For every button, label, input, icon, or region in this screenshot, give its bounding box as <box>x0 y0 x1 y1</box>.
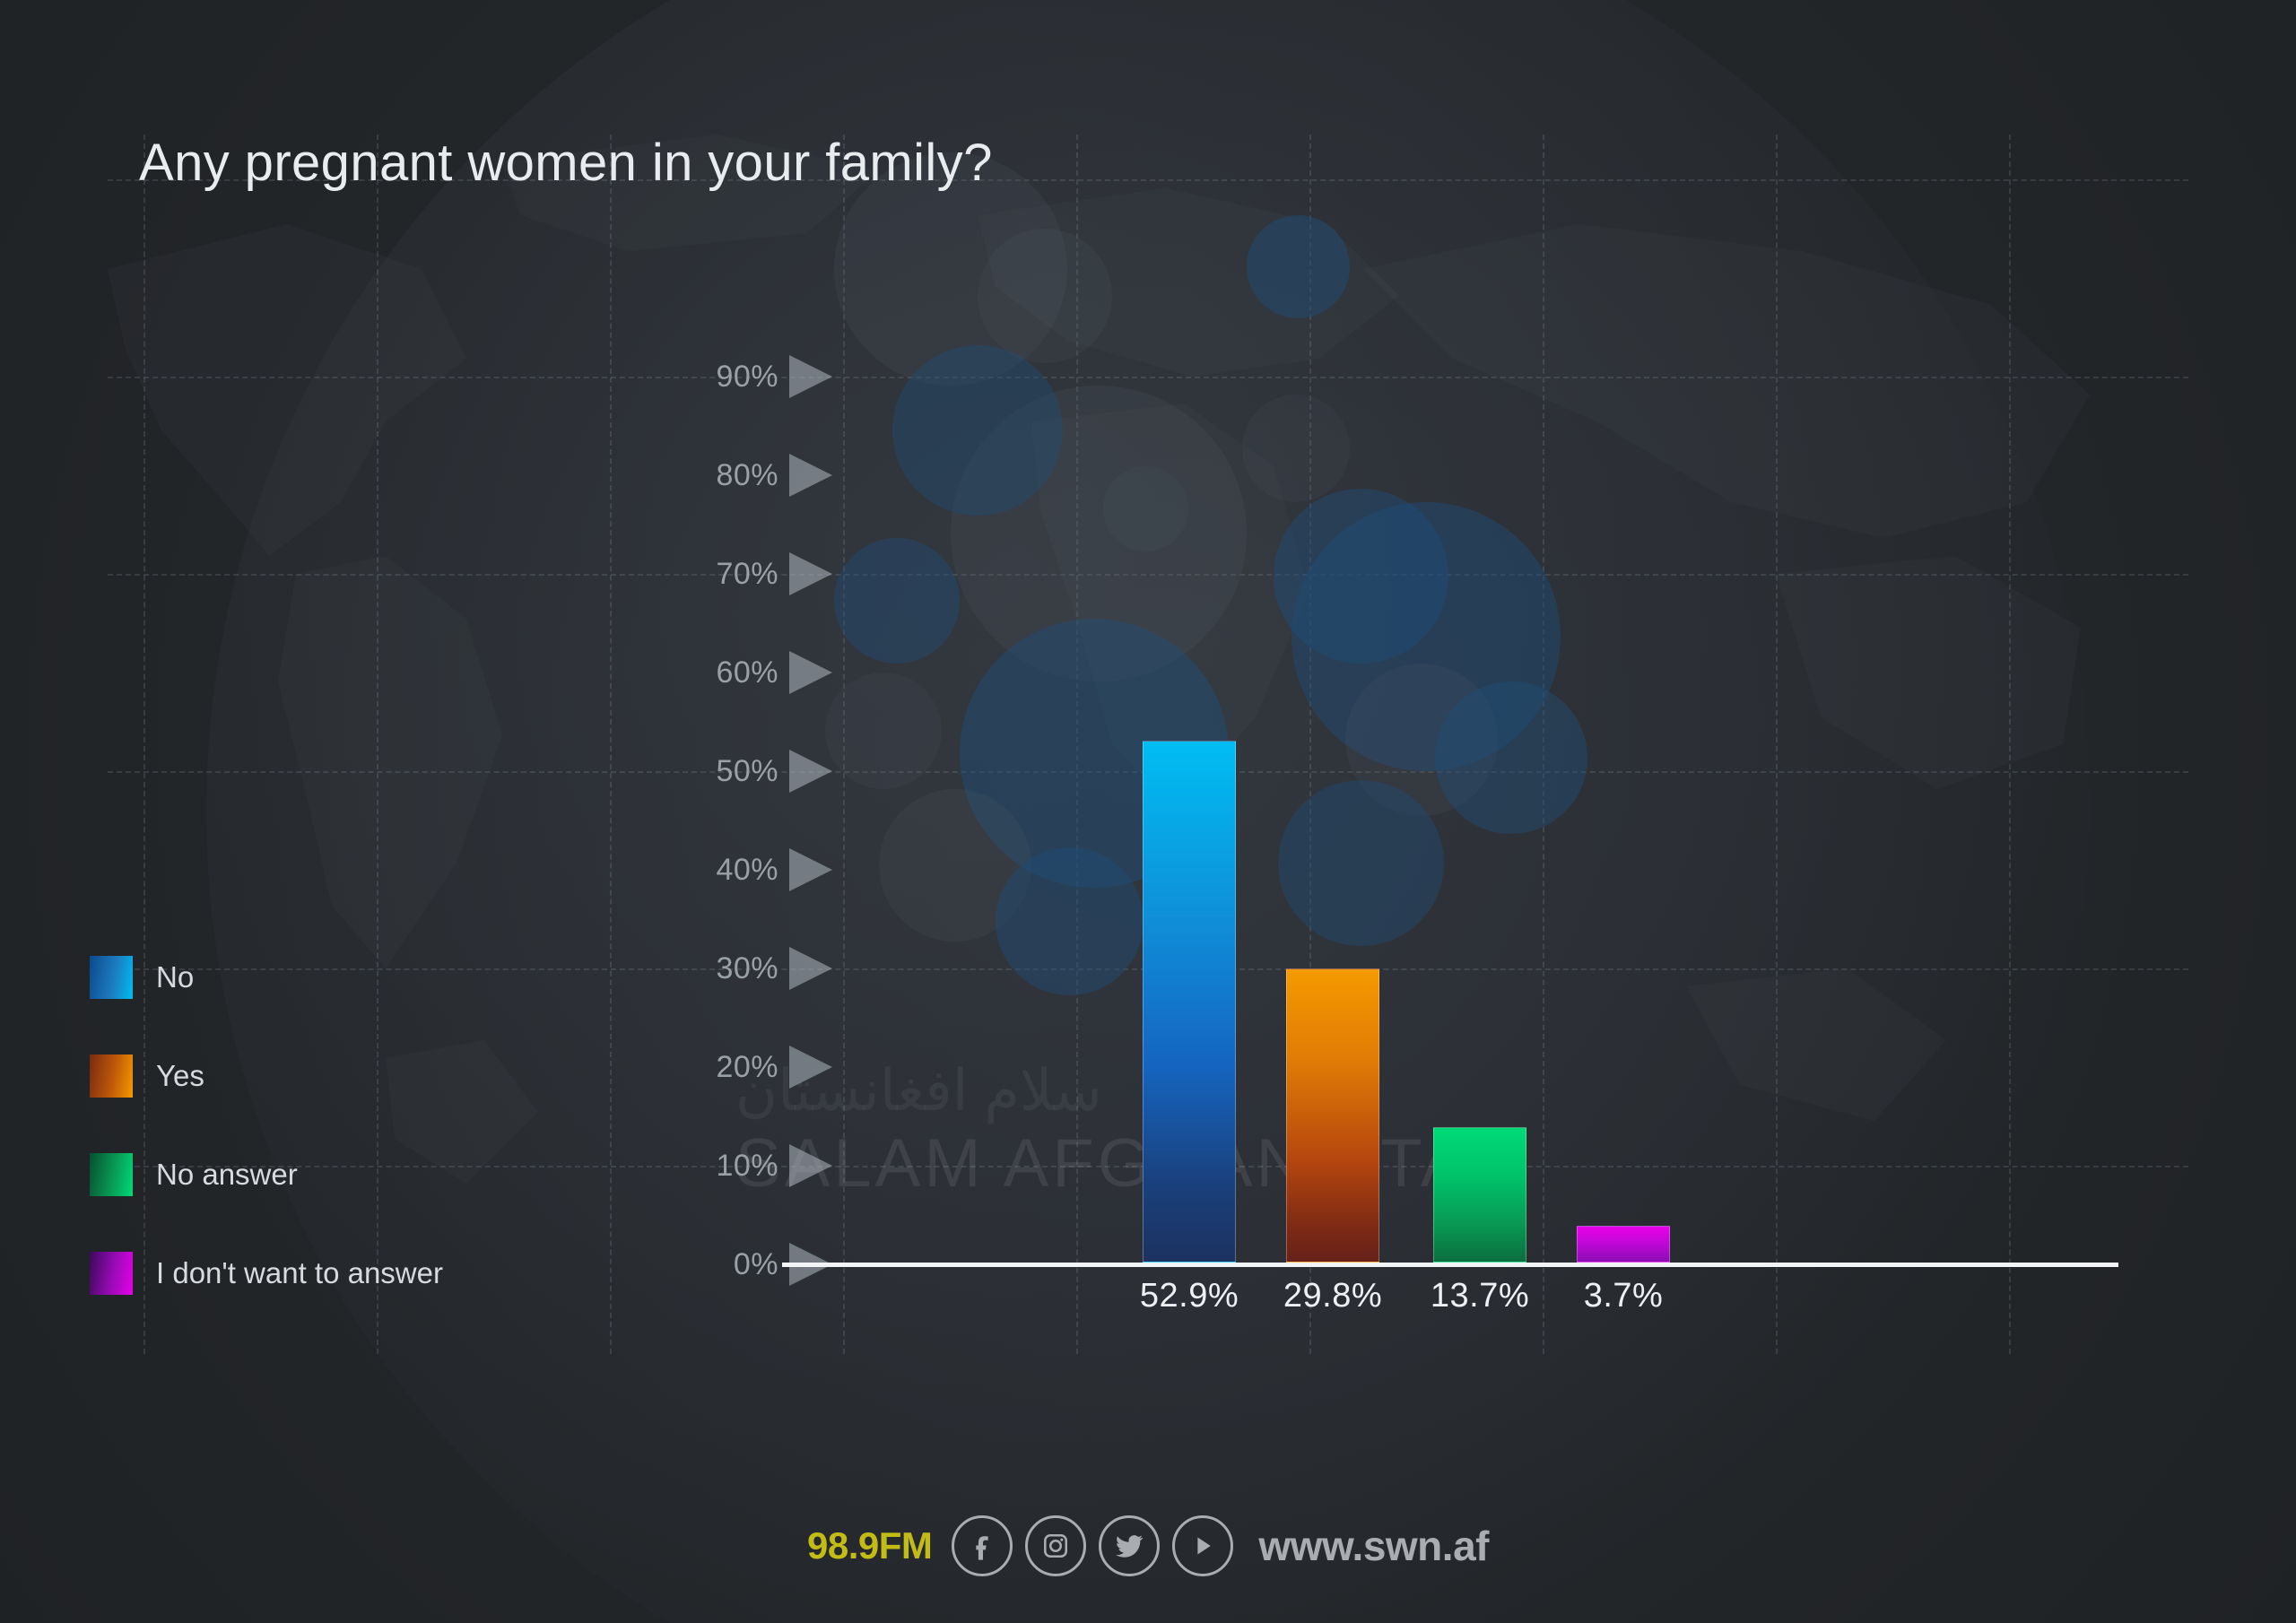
chart-canvas: سلام افغانستان SALAM AFGHANISTAN Any pre… <box>0 0 2296 1623</box>
instagram-icon[interactable] <box>1025 1515 1086 1576</box>
bar-value-dont-want-to-answer: 3.7% <box>1559 1277 1688 1315</box>
tick-arrow-icon <box>789 947 832 990</box>
facebook-icon[interactable] <box>952 1515 1013 1576</box>
tick-arrow-icon <box>789 355 832 398</box>
tick-arrow-icon <box>789 552 832 595</box>
tick-arrow-icon <box>789 750 832 793</box>
y-axis-tick-label: 90% <box>682 360 778 395</box>
website-url[interactable]: www.swn.af <box>1258 1522 1489 1570</box>
tick-arrow-icon <box>789 454 832 497</box>
y-axis-tick-50: 50% <box>682 750 832 793</box>
y-axis-tick-70: 70% <box>682 552 832 595</box>
x-axis-baseline <box>782 1263 2118 1267</box>
footer-bar: 98.9FM www.swn.af <box>0 1515 2296 1576</box>
tick-arrow-icon <box>789 1144 832 1187</box>
plot-area: 90% 80% 70% 60% 50% 40% 30% 20% <box>0 0 2296 1623</box>
bar-value-no: 52.9% <box>1125 1277 1254 1315</box>
y-axis-tick-label: 0% <box>682 1247 778 1282</box>
y-axis-tick-label: 30% <box>682 951 778 986</box>
y-axis-tick-label: 80% <box>682 458 778 493</box>
y-axis-tick-label: 70% <box>682 557 778 592</box>
youtube-play-icon[interactable] <box>1172 1515 1233 1576</box>
bar-no[interactable] <box>1143 741 1236 1263</box>
y-axis-tick-label: 60% <box>682 655 778 690</box>
y-axis-tick-label: 20% <box>682 1050 778 1085</box>
tick-arrow-icon <box>789 848 832 891</box>
bar-value-no-answer: 13.7% <box>1415 1277 1544 1315</box>
radio-frequency-label: 98.9FM <box>807 1524 932 1567</box>
y-axis-tick-10: 10% <box>682 1144 832 1187</box>
tick-arrow-icon <box>789 651 832 694</box>
bar-no-answer[interactable] <box>1433 1127 1526 1263</box>
bar-dont-want-to-answer[interactable] <box>1577 1226 1670 1263</box>
y-axis-tick-40: 40% <box>682 848 832 891</box>
bar-yes[interactable] <box>1286 968 1379 1263</box>
twitter-icon[interactable] <box>1099 1515 1160 1576</box>
y-axis-tick-80: 80% <box>682 454 832 497</box>
y-axis-tick-60: 60% <box>682 651 832 694</box>
y-axis-tick-20: 20% <box>682 1046 832 1089</box>
y-axis-tick-30: 30% <box>682 947 832 990</box>
y-axis-tick-label: 10% <box>682 1149 778 1184</box>
y-axis-tick-label: 50% <box>682 754 778 789</box>
tick-arrow-icon <box>789 1046 832 1089</box>
bar-value-yes: 29.8% <box>1268 1277 1397 1315</box>
y-axis-tick-label: 40% <box>682 853 778 888</box>
y-axis-tick-90: 90% <box>682 355 832 398</box>
